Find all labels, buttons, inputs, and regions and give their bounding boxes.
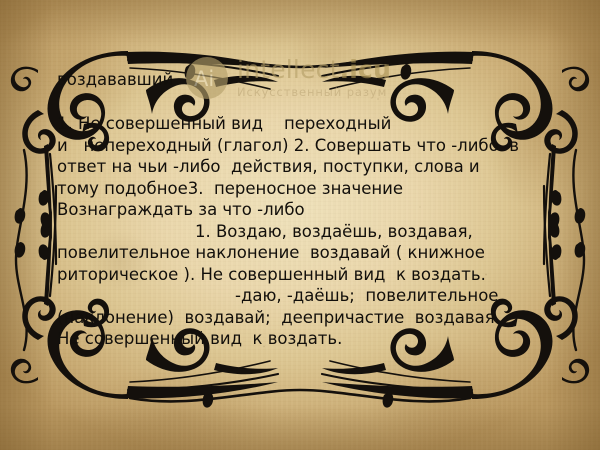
definition-line: 1. Не совершенный вид переходный (57, 113, 557, 135)
definition-line: риторическое ). Не совершенный вид к воз… (57, 264, 557, 286)
definition-line: Вознаграждать за что -либо (57, 199, 557, 221)
definition-line: Не совершенный вид к воздать. (57, 328, 557, 350)
definition-line: и непереходный (глагол) 2. Совершать что… (57, 135, 557, 157)
definition-line: ответ на чьи -либо действия, поступки, с… (57, 156, 557, 178)
definition-line: тому подобное3. переносное значение (57, 178, 557, 200)
definition-line: повелительное наклонение воздавай ( книж… (57, 242, 557, 264)
dictionary-entry-image: Ai intellect.icu Искусственный разум воз… (0, 0, 600, 450)
entry-text-content: воздававший 1. Не совершенный вид перехо… (0, 0, 600, 450)
definition-line: (наклонение) воздавай; деепричастие возд… (57, 307, 557, 329)
definition-body: 1. Не совершенный вид переходный и непер… (57, 113, 557, 350)
definition-line: -даю, -даёшь; повелительное (57, 285, 557, 307)
headword: воздававший (57, 70, 173, 89)
definition-line: 1. Воздаю, воздаёшь, воздавая, (57, 221, 557, 243)
